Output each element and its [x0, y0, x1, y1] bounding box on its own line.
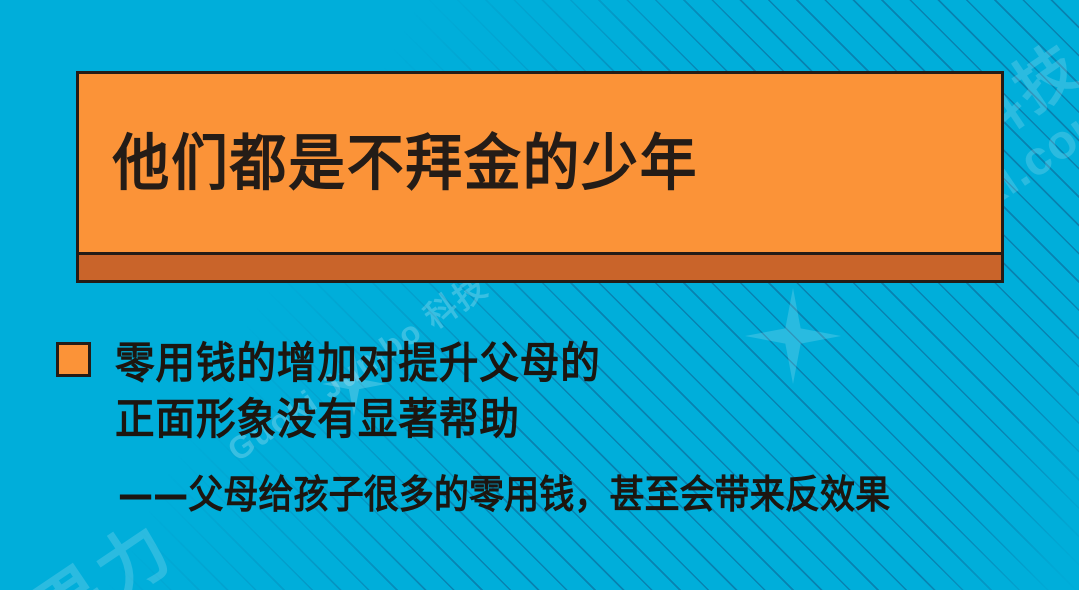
bullet-row: 零用钱的增加对提升父母的 正面形象没有显著帮助 [56, 336, 1056, 448]
bullet-line-1: 零用钱的增加对提升父母的 [115, 336, 601, 392]
bullet-line-2: 正面形象没有显著帮助 [115, 392, 601, 448]
bullet-text-group: 零用钱的增加对提升父母的 正面形象没有显著帮助 [115, 336, 643, 448]
watermark-bottom-left: 果力 [21, 509, 186, 590]
slide-canvas: 科技 Guoki.com 果力 Guoki Jumbo 科技 他们都是不拜金的少… [0, 0, 1079, 590]
page-title: 他们都是不拜金的少年 [79, 133, 698, 194]
title-banner-accent-strip [79, 252, 1001, 280]
title-banner-body: 他们都是不拜金的少年 [79, 74, 1001, 252]
square-bullet-icon [56, 342, 91, 377]
bullet-note: ——父母给孩子很多的零用钱，甚至会带来反效果 [118, 472, 890, 521]
bullet-block: 零用钱的增加对提升父母的 正面形象没有显著帮助 [56, 336, 1056, 448]
title-banner: 他们都是不拜金的少年 [76, 71, 1004, 283]
